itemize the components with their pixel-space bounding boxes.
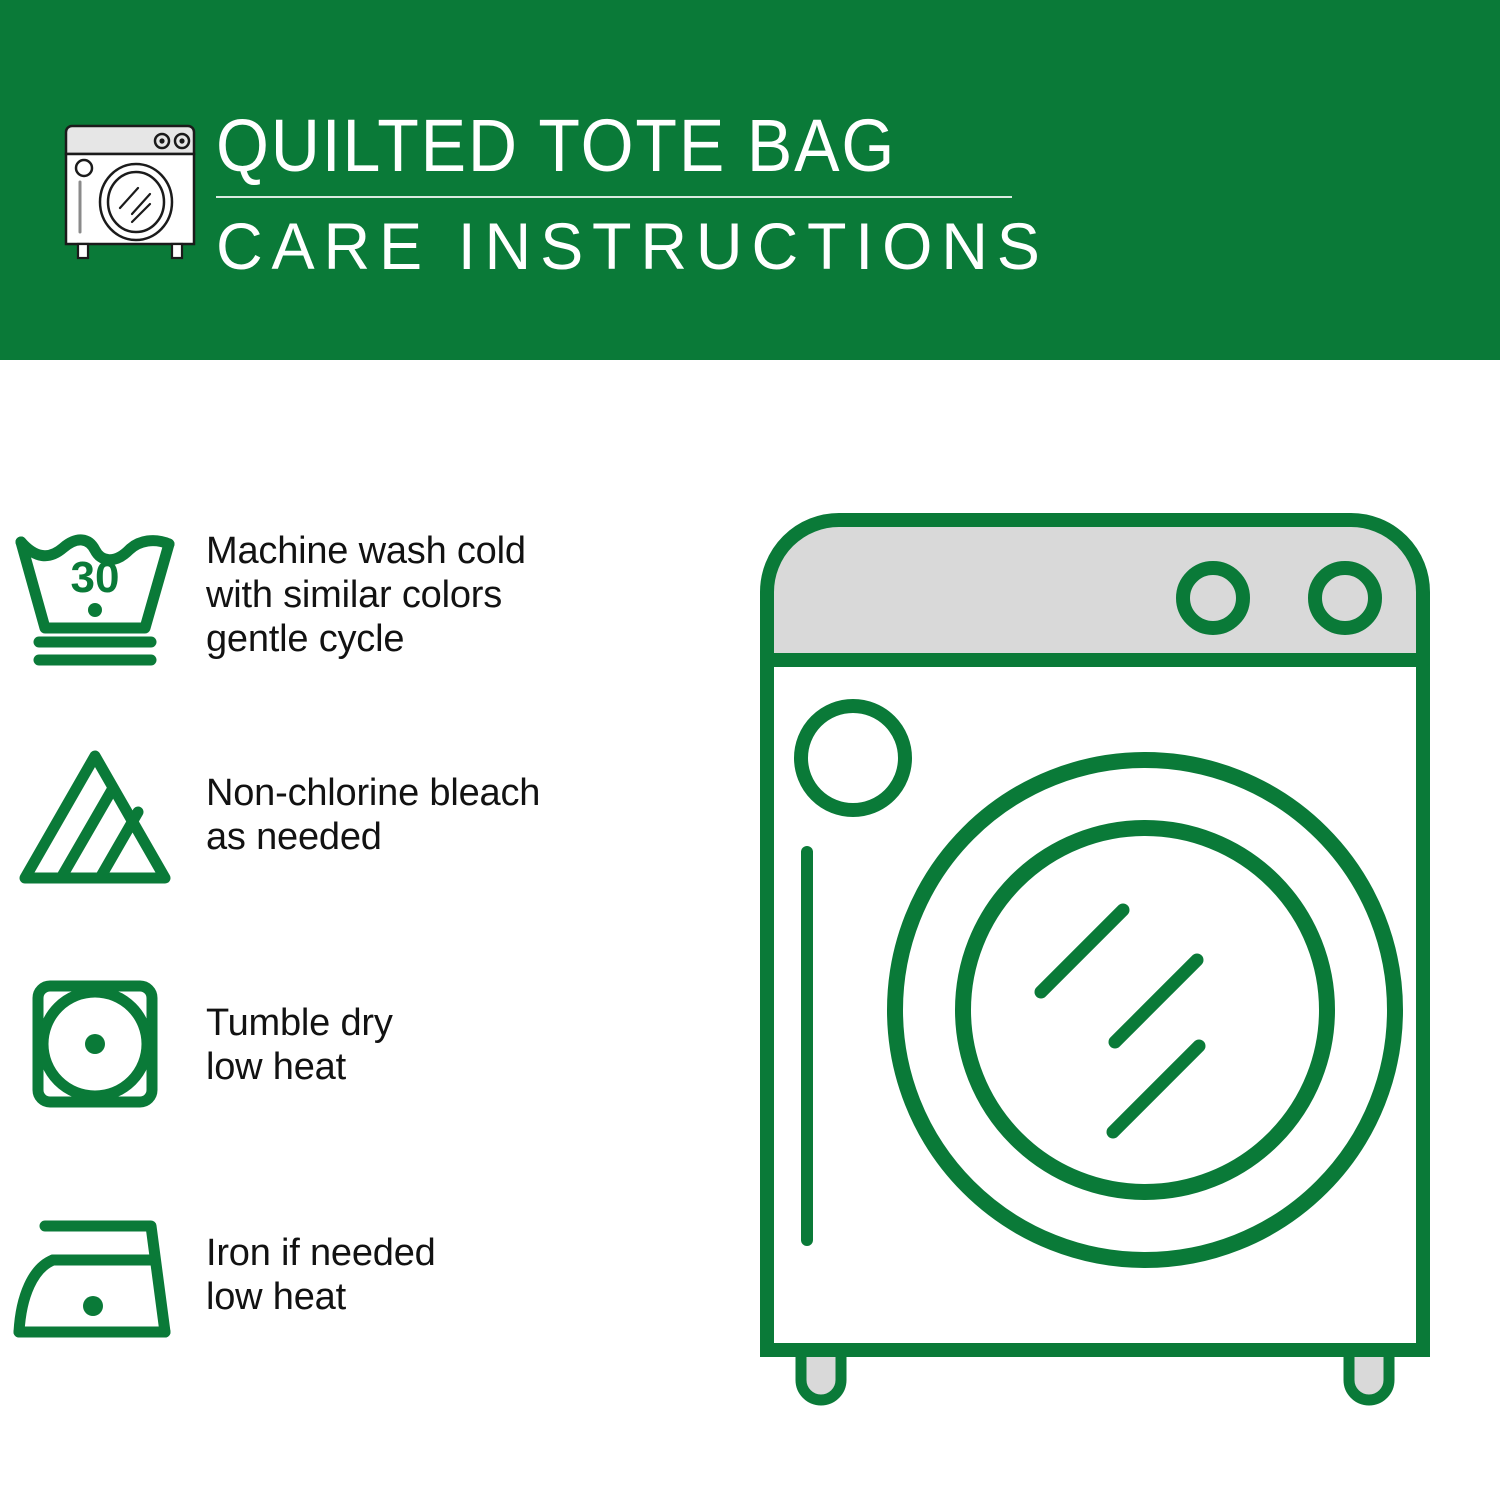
- title-divider: [216, 196, 1012, 198]
- iron-low-heat-icon: [0, 1190, 190, 1360]
- care-label: Tumble dry low heat: [190, 1001, 393, 1089]
- care-label: Machine wash cold with similar colors ge…: [190, 529, 526, 661]
- care-label: Non-chlorine bleach as needed: [190, 771, 540, 859]
- care-row: Non-chlorine bleach as needed: [0, 730, 740, 900]
- care-label: Iron if needed low heat: [190, 1231, 436, 1319]
- tumble-dry-low-icon: [0, 960, 190, 1130]
- care-row: Iron if needed low heat: [0, 1190, 740, 1360]
- care-row: 30 Machine wash cold with similar colors…: [0, 510, 740, 680]
- page-subtitle: CARE INSTRUCTIONS: [216, 208, 1010, 284]
- wash-temp-value: 30: [71, 553, 120, 602]
- care-instruction-list: 30 Machine wash cold with similar colors…: [0, 360, 740, 1500]
- washing-machine-icon: [60, 104, 200, 264]
- page-title: QUILTED TOTE BAG: [216, 104, 961, 188]
- header-text-block: QUILTED TOTE BAG CARE INSTRUCTIONS: [216, 104, 1026, 284]
- care-row: Tumble dry low heat: [0, 960, 740, 1130]
- wash-tub-30-icon: 30: [0, 510, 190, 680]
- bleach-triangle-icon: [0, 730, 190, 900]
- washing-machine-illustration: [745, 480, 1445, 1430]
- header-band: QUILTED TOTE BAG CARE INSTRUCTIONS: [0, 0, 1500, 360]
